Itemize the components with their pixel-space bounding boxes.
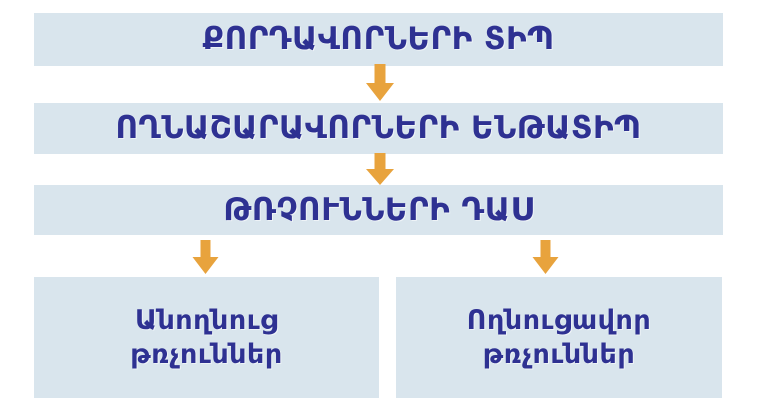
down-arrow-icon <box>528 240 563 275</box>
down-arrow-icon <box>361 64 399 102</box>
down-arrow-icon <box>188 240 223 275</box>
node-voghnasharavorneri-entatip: ՈՂՆԱՇԱՐԱՎՈՐՆԵՐԻ ԵՆԹԱՏԻՊ <box>34 103 723 154</box>
down-arrow-icon <box>361 153 399 186</box>
node-label-branch-right: Ողնուցավոր թռչուններ <box>467 304 651 372</box>
node-kordavorneri-tip: ՔՈՐԴԱՎՈՐՆԵՐԻ ՏԻՊ <box>34 13 723 66</box>
node-label-level-3: ԹՌՉՈՒՆՆԵՐԻ ԴԱՍ <box>223 194 533 227</box>
node-label-level-1: ՔՈՐԴԱՎՈՐՆԵՐԻ ՏԻՊ <box>202 23 554 56</box>
node-trrchunneri-das: ԹՌՉՈՒՆՆԵՐԻ ԴԱՍ <box>34 185 723 235</box>
hierarchy-flowchart: ՔՈՐԴԱՎՈՐՆԵՐԻ ՏԻՊ ՈՂՆԱՇԱՐԱՎՈՐՆԵՐԻ ԵՆԹԱՏԻՊ… <box>0 0 757 420</box>
node-voghnutsavor-trrchunner: Ողնուցավոր թռչուններ <box>396 277 722 398</box>
node-label-level-2: ՈՂՆԱՇԱՐԱՎՈՐՆԵՐԻ ԵՆԹԱՏԻՊ <box>116 112 642 145</box>
node-label-branch-left: Անողնուց թռչուններ <box>130 304 282 372</box>
node-anoghnuts-trrchunner: Անողնուց թռչուններ <box>34 277 379 398</box>
